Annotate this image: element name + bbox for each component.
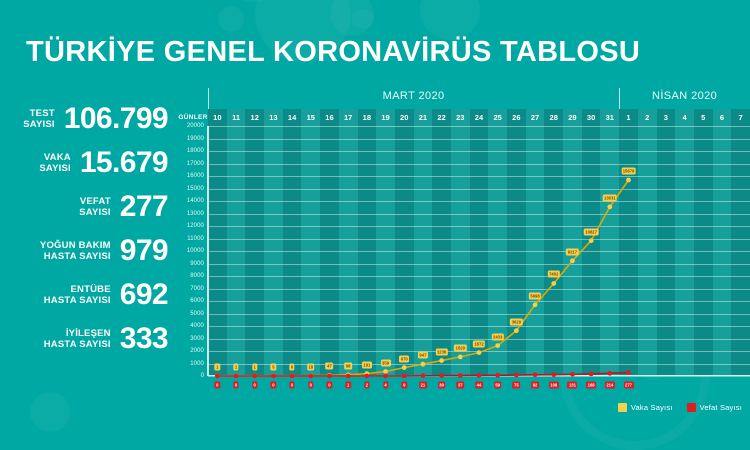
day-label[interactable]: 25 (488, 109, 507, 126)
y-tick-label: 16000 (187, 173, 204, 179)
case-value-label: 13531 (602, 194, 617, 201)
month-label: MART 2020 (354, 90, 474, 102)
data-point-marker (346, 374, 351, 379)
data-point-marker (477, 373, 482, 378)
death-value-label: 0 (215, 382, 220, 389)
day-label[interactable]: 10 (208, 109, 227, 126)
day-label[interactable]: 3 (657, 109, 676, 126)
data-point-marker (421, 362, 426, 367)
day-label[interactable]: 24 (470, 109, 489, 126)
case-value-label: 947 (418, 352, 428, 359)
day-label[interactable]: 28 (544, 109, 563, 126)
case-value-label: 2433 (492, 333, 504, 340)
y-tick-label: 14000 (187, 198, 204, 204)
death-value-label: 4 (383, 382, 388, 389)
death-value-label: 277 (624, 382, 634, 389)
stat-row: İYİLEŞEN HASTA SAYISI333 (0, 324, 178, 354)
data-point-marker (570, 258, 575, 263)
day-label[interactable]: 27 (526, 109, 545, 126)
stat-value: 333 (120, 324, 168, 354)
day-label[interactable]: 12 (245, 109, 264, 126)
stat-label: VAKA SAYISI (39, 152, 70, 174)
case-value-label: 1 (252, 363, 257, 370)
chart-panel: MART 2020NİSAN 2020 GÜNLER 1011121314151… (178, 88, 750, 398)
stat-label: VEFAT SAYISI (79, 196, 110, 218)
day-label[interactable]: 23 (451, 109, 470, 126)
stat-row: YOĞUN BAKIM HASTA SAYISI979 (0, 236, 178, 266)
data-point-marker (439, 358, 444, 363)
y-tick-label: 19000 (187, 136, 204, 142)
death-value-label: 0 (308, 382, 313, 389)
y-tick-label: 18000 (187, 148, 204, 154)
day-label[interactable]: 17 (339, 109, 358, 126)
stat-label: ENTÜBE HASTA SAYISI (44, 284, 111, 306)
y-tick-label: 11000 (187, 236, 204, 242)
month-divider (208, 88, 209, 109)
death-value-label: 44 (475, 382, 483, 389)
y-tick-label: 6000 (190, 298, 204, 304)
data-point-marker (383, 369, 388, 374)
day-label[interactable]: 29 (563, 109, 582, 126)
data-point-marker (477, 350, 482, 355)
chart-legend: Vaka SayısıVefat Sayısı (618, 403, 742, 412)
data-point-marker (271, 374, 276, 379)
y-tick-label: 0 (201, 373, 204, 379)
data-point-marker (215, 374, 220, 379)
case-value-label: 1 (215, 363, 220, 370)
y-tick-label: 7000 (190, 286, 204, 292)
death-value-label: 0 (271, 382, 276, 389)
stat-label: İYİLEŞEN HASTA SAYISI (44, 328, 111, 350)
day-label[interactable]: 16 (320, 109, 339, 126)
stat-row: ENTÜBE HASTA SAYISI692 (0, 280, 178, 310)
case-value-label: 670 (399, 355, 409, 362)
day-label[interactable]: 19 (376, 109, 395, 126)
death-value-label: 0 (289, 382, 294, 389)
stat-value: 15.679 (80, 148, 168, 178)
series-line-cases (217, 180, 628, 376)
data-point-marker (533, 372, 538, 377)
day-label[interactable]: 31 (600, 109, 619, 126)
data-point-marker (551, 281, 556, 286)
case-value-label: 7402 (548, 271, 560, 278)
y-tick-label: 2000 (190, 348, 204, 354)
data-point-marker (495, 373, 500, 378)
stat-value: 277 (120, 192, 168, 222)
death-value-label: 108 (549, 382, 559, 389)
data-point-marker (589, 238, 594, 243)
data-point-marker (626, 370, 631, 375)
day-label[interactable]: 4 (675, 109, 694, 126)
case-value-label: 1 (233, 363, 238, 370)
data-point-marker (290, 374, 295, 379)
data-point-marker (458, 373, 463, 378)
day-label[interactable]: 22 (432, 109, 451, 126)
day-label[interactable]: 14 (283, 109, 302, 126)
y-tick-label: 17000 (187, 161, 204, 167)
stat-label: TEST SAYISI (23, 108, 54, 130)
data-point-marker (607, 371, 612, 376)
y-tick-label: 15000 (187, 186, 204, 192)
y-tick-label: 13000 (187, 211, 204, 217)
month-divider (619, 88, 620, 109)
day-label[interactable]: 18 (358, 109, 377, 126)
death-value-label: 30 (438, 382, 446, 389)
case-value-label: 359 (381, 359, 391, 366)
death-value-label: 131 (567, 382, 577, 389)
day-label[interactable]: 6 (713, 109, 732, 126)
stat-value: 692 (120, 280, 168, 310)
data-point-marker (252, 374, 257, 379)
y-tick-label: 10000 (187, 248, 204, 254)
day-label[interactable]: 1 (619, 109, 638, 126)
y-tick-label: 5000 (190, 311, 204, 317)
stat-value: 106.799 (64, 104, 168, 134)
death-value-label: 168 (586, 382, 596, 389)
day-label[interactable]: 30 (582, 109, 601, 126)
case-value-label: 15679 (621, 168, 636, 175)
data-point-marker (551, 372, 556, 377)
series-lines (208, 126, 750, 376)
day-label[interactable]: 5 (694, 109, 713, 126)
data-point-marker (402, 373, 407, 378)
case-value-label: 191 (362, 361, 372, 368)
death-value-label: 0 (327, 382, 332, 389)
case-value-label: 47 (326, 363, 334, 370)
death-value-label: 2 (364, 382, 369, 389)
death-value-label: 92 (531, 382, 539, 389)
data-point-marker (421, 373, 426, 378)
day-label[interactable]: 7 (731, 109, 750, 126)
legend-label: Vefat Sayısı (700, 403, 742, 412)
case-value-label: 1872 (473, 340, 485, 347)
day-label[interactable]: 13 (264, 109, 283, 126)
death-value-label: 1 (346, 382, 351, 389)
legend-item[interactable]: Vefat Sayısı (687, 403, 742, 412)
month-band: MART 2020NİSAN 2020 (208, 88, 750, 109)
y-tick-label: 12000 (187, 223, 204, 229)
case-value-label: 5 (271, 363, 276, 370)
y-tick-label: 20000 (187, 123, 204, 129)
death-value-label: 9 (402, 382, 407, 389)
death-value-label: 0 (233, 382, 238, 389)
data-point-marker (533, 302, 538, 307)
data-point-marker (234, 374, 239, 379)
data-point-marker (514, 373, 519, 378)
legend-swatch (687, 403, 696, 412)
stat-value: 979 (120, 236, 168, 266)
y-tick-label: 8000 (190, 273, 204, 279)
data-point-marker (308, 374, 313, 379)
stat-label: YOĞUN BAKIM HASTA SAYISI (40, 240, 111, 262)
y-axis-ticks: 0100020003000400050006000700080009000100… (178, 126, 206, 376)
death-value-label: 0 (252, 382, 257, 389)
day-label[interactable]: 20 (395, 109, 414, 126)
data-point-marker (626, 178, 631, 183)
death-value-label: 59 (494, 382, 502, 389)
y-tick-label: 9000 (190, 261, 204, 267)
stat-row: VEFAT SAYISI277 (0, 192, 178, 222)
plot-area: 0100020003000400050006000700080009000100… (208, 126, 750, 376)
case-value-label: 3629 (510, 318, 522, 325)
legend-label: Vaka Sayısı (631, 403, 673, 412)
page-title: TÜRKİYE GENEL KORONAVİRÜS TABLOSU (26, 36, 640, 69)
day-labels-row: 1011121314151617181920212223242526272829… (208, 109, 750, 126)
case-value-label: 1529 (454, 344, 466, 351)
death-value-label: 37 (456, 382, 464, 389)
data-point-marker (327, 374, 332, 379)
case-value-label: 18 (307, 363, 315, 370)
data-point-marker (364, 374, 369, 379)
death-value-label: 75 (513, 382, 521, 389)
case-value-label: 1236 (435, 348, 447, 355)
legend-swatch (618, 403, 627, 412)
data-point-marker (439, 373, 444, 378)
month-label: NİSAN 2020 (625, 90, 745, 102)
y-tick-label: 4000 (190, 323, 204, 329)
case-value-label: 6 (289, 363, 294, 370)
data-point-marker (570, 372, 575, 377)
case-value-label: 98 (344, 362, 352, 369)
data-point-marker (383, 374, 388, 379)
data-point-marker (589, 372, 594, 377)
y-tick-label: 3000 (190, 336, 204, 342)
data-point-marker (607, 204, 612, 209)
day-label[interactable]: 11 (227, 109, 246, 126)
legend-item[interactable]: Vaka Sayısı (618, 403, 673, 412)
data-point-marker (495, 343, 500, 348)
stat-row: TEST SAYISI106.799 (0, 104, 178, 134)
case-value-label: 5698 (529, 292, 541, 299)
data-point-marker (458, 354, 463, 359)
day-label[interactable]: 26 (507, 109, 526, 126)
day-label[interactable]: 15 (301, 109, 320, 126)
case-value-label: 10827 (584, 228, 599, 235)
day-label[interactable]: 21 (414, 109, 433, 126)
stat-row: VAKA SAYISI15.679 (0, 148, 178, 178)
day-label[interactable]: 2 (638, 109, 657, 126)
statistics-panel: TEST SAYISI106.799VAKA SAYISI15.679VEFAT… (0, 104, 178, 368)
y-tick-label: 1000 (190, 361, 204, 367)
data-point-marker (402, 365, 407, 370)
death-value-label: 21 (419, 382, 427, 389)
death-value-label: 214 (605, 382, 615, 389)
data-point-marker (514, 328, 519, 333)
case-value-label: 9217 (566, 248, 578, 255)
